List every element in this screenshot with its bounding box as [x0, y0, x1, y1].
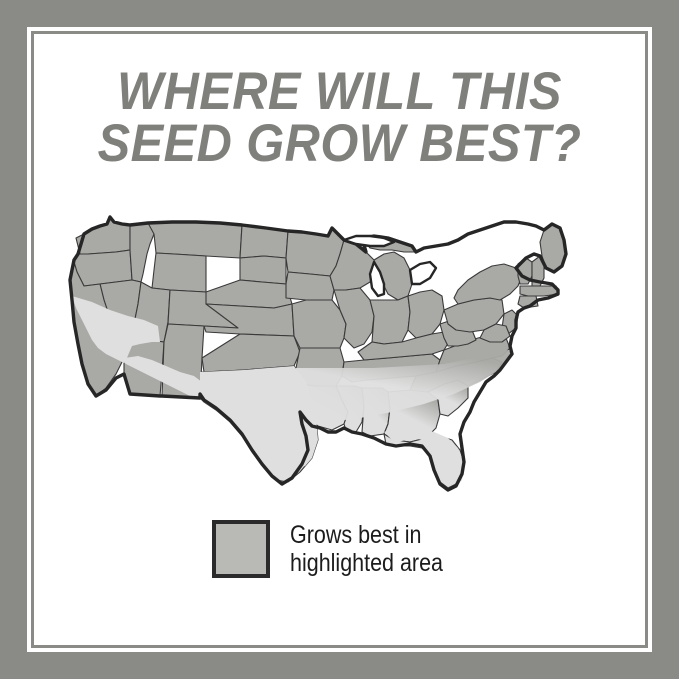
state-nebraska [206, 280, 292, 308]
legend-label-line-2: highlighted area [290, 549, 443, 577]
state-idaho [130, 223, 156, 282]
state-indiana [370, 296, 410, 344]
lake-huron-erie [410, 262, 436, 284]
map-legend: Grows best in highlighted area [38, 520, 641, 578]
state-south-dakota [240, 256, 286, 284]
state-wyoming [152, 253, 206, 292]
map-landmass [70, 217, 566, 490]
state-montana [148, 222, 242, 258]
state-missouri [292, 300, 346, 348]
state-new-york [454, 264, 522, 304]
state-ohio [408, 290, 444, 338]
card-content: WHERE WILL THIS SEED GROW BEST? [38, 38, 641, 641]
legend-label: Grows best in highlighted area [290, 521, 443, 577]
seed-grow-zone-card: WHERE WILL THIS SEED GROW BEST? [0, 0, 679, 679]
legend-label-line-1: Grows best in [290, 521, 443, 549]
united-states-map [44, 196, 635, 496]
page-title-line-2: SEED GROW BEST? [62, 118, 617, 170]
legend-swatch [212, 520, 270, 578]
page-title-line-1: WHERE WILL THIS [62, 66, 617, 118]
page-title: WHERE WILL THIS SEED GROW BEST? [62, 66, 617, 170]
state-iowa [286, 272, 334, 300]
